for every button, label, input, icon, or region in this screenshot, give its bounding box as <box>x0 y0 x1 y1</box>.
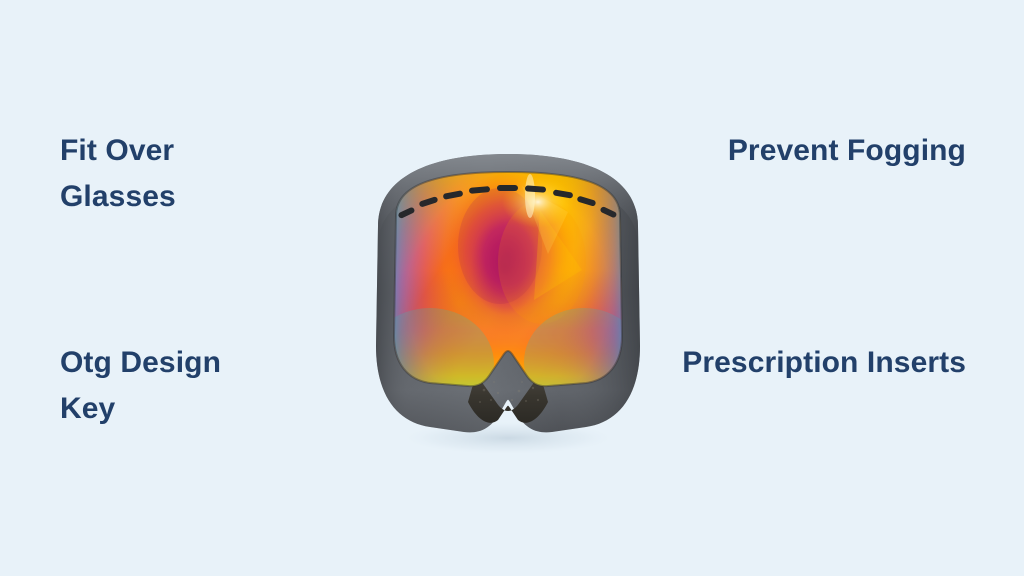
poster-canvas: Fit Over Glasses Otg Design Key Prevent … <box>0 0 1024 576</box>
feature-label-otg-design-key: Otg Design Key <box>60 340 310 432</box>
feature-label-fit-over-glasses: Fit Over Glasses <box>60 128 310 220</box>
ski-goggles-image <box>372 150 644 456</box>
